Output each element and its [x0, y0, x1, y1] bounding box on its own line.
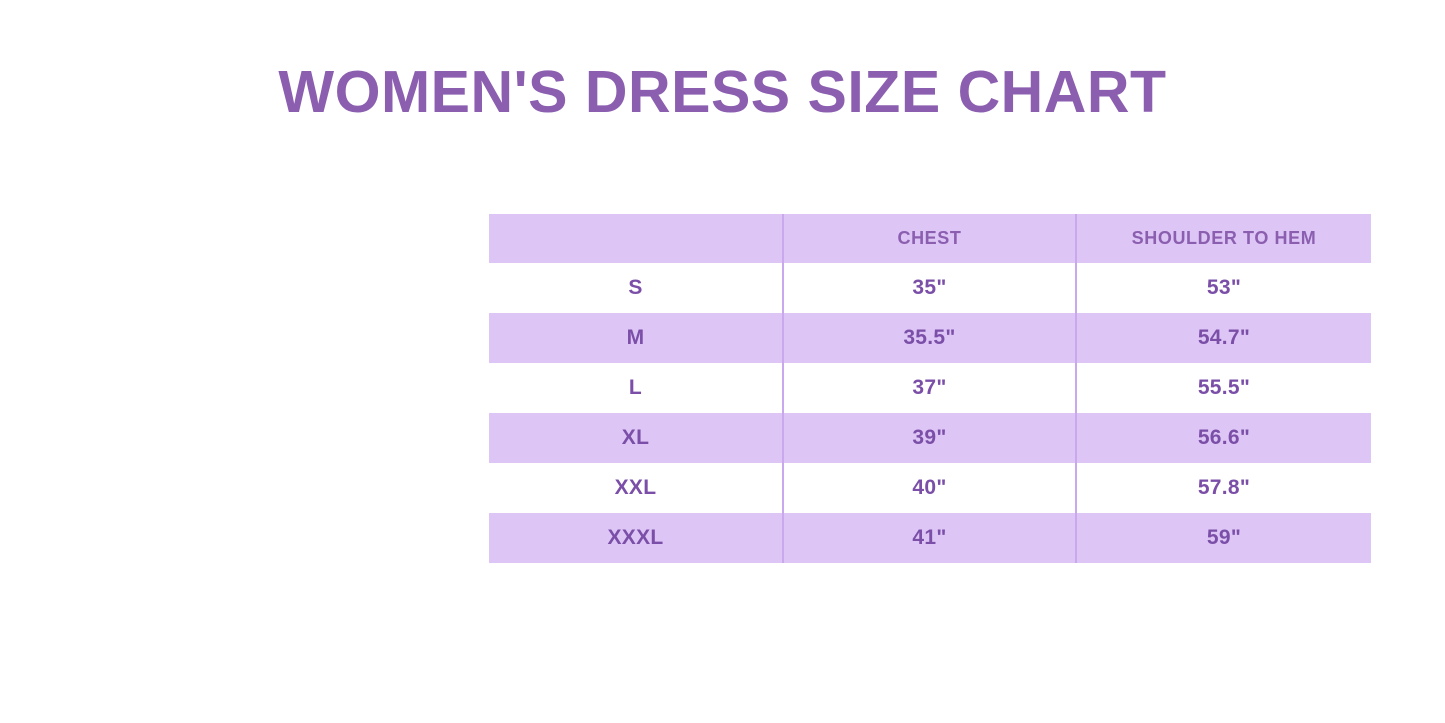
- cell-chest: 40": [783, 463, 1076, 513]
- cell-shoulder-to-hem: 54.7": [1076, 313, 1371, 363]
- cell-shoulder-to-hem: 53": [1076, 263, 1371, 313]
- cell-chest: 39": [783, 413, 1076, 463]
- cell-size: M: [489, 313, 783, 363]
- cell-chest: 35": [783, 263, 1076, 313]
- cell-chest: 35.5": [783, 313, 1076, 363]
- page-title: WOMEN'S DRESS SIZE CHART: [0, 56, 1445, 128]
- table-row: M 35.5" 54.7": [489, 313, 1371, 363]
- table-header-row: CHEST SHOULDER TO HEM: [489, 214, 1371, 263]
- column-header-shoulder-to-hem: SHOULDER TO HEM: [1076, 214, 1371, 263]
- cell-size: XXXL: [489, 513, 783, 563]
- size-chart-table: CHEST SHOULDER TO HEM S 35" 53" M 35.5" …: [489, 214, 1371, 563]
- cell-chest: 37": [783, 363, 1076, 413]
- column-header-chest: CHEST: [783, 214, 1076, 263]
- cell-shoulder-to-hem: 56.6": [1076, 413, 1371, 463]
- table-row: S 35" 53": [489, 263, 1371, 313]
- cell-shoulder-to-hem: 59": [1076, 513, 1371, 563]
- cell-size: XXL: [489, 463, 783, 513]
- cell-size: XL: [489, 413, 783, 463]
- cell-size: L: [489, 363, 783, 413]
- cell-size: S: [489, 263, 783, 313]
- table-row: XL 39" 56.6": [489, 413, 1371, 463]
- table-row: L 37" 55.5": [489, 363, 1371, 413]
- cell-chest: 41": [783, 513, 1076, 563]
- cell-shoulder-to-hem: 55.5": [1076, 363, 1371, 413]
- table-row: XXXL 41" 59": [489, 513, 1371, 563]
- column-header-size: [489, 214, 783, 263]
- table-row: XXL 40" 57.8": [489, 463, 1371, 513]
- cell-shoulder-to-hem: 57.8": [1076, 463, 1371, 513]
